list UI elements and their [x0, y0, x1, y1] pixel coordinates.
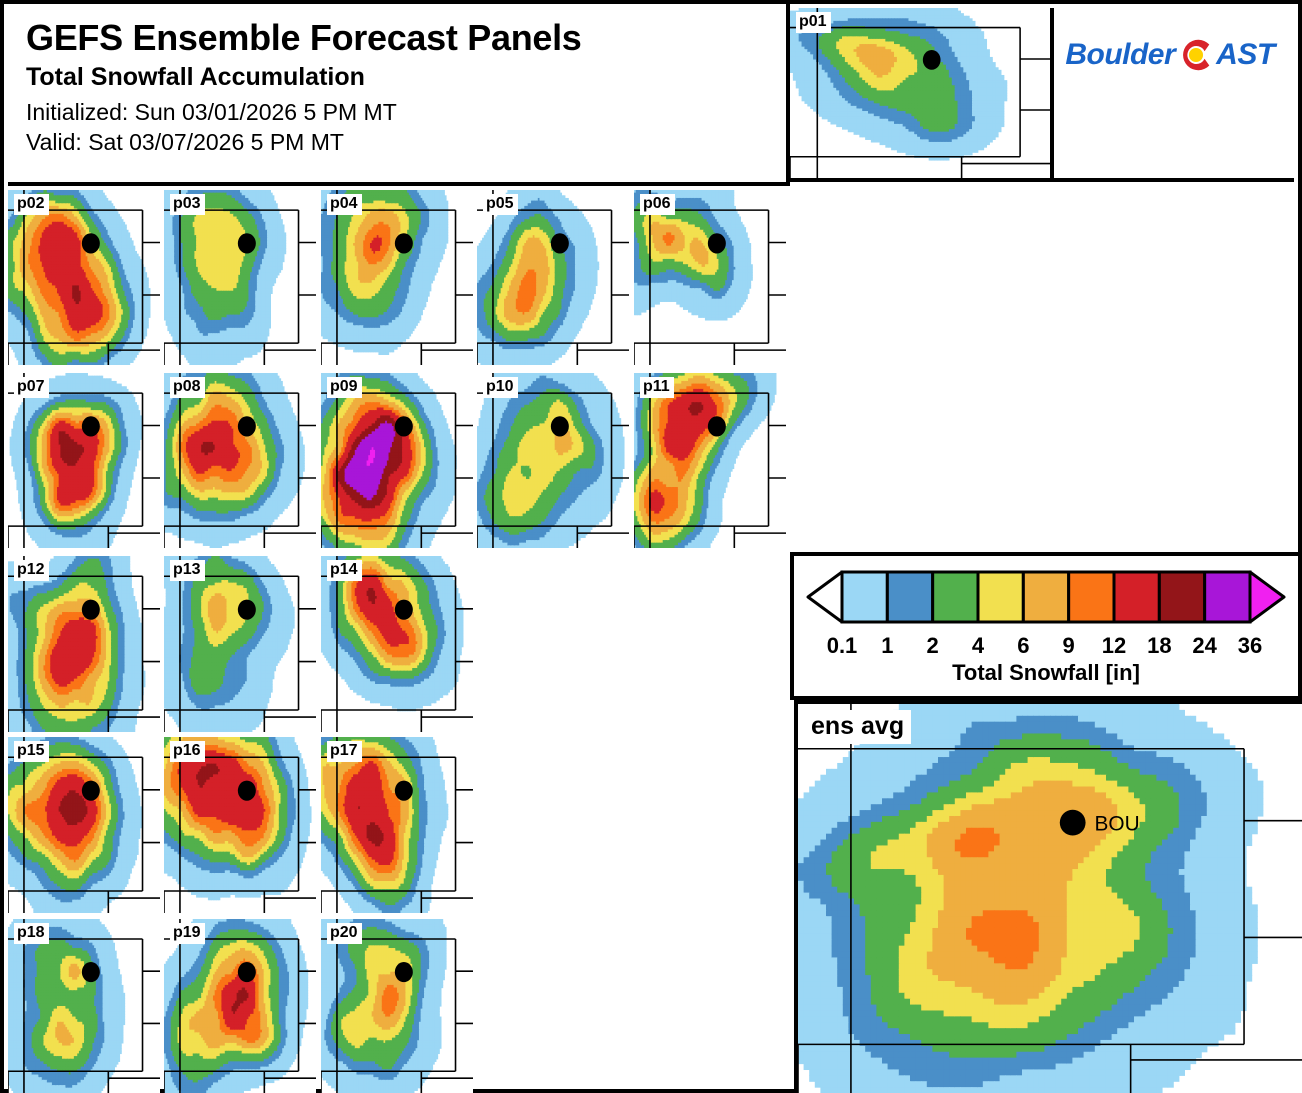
station-marker-bou	[395, 962, 413, 982]
snowfall-contour-fill	[8, 556, 145, 732]
panel-label: p16	[170, 741, 205, 762]
station-marker-bou	[395, 781, 413, 801]
forecast-panel-p19[interactable]: p19	[164, 919, 316, 1093]
colorbar-tick-12: 12	[1102, 633, 1126, 659]
forecast-panel-ens-avg[interactable]: BOU ens avg	[794, 700, 1302, 1093]
forecast-panel-p10[interactable]: p10	[477, 373, 629, 548]
forecast-panel-p01[interactable]: p01	[790, 8, 1054, 182]
forecast-panel-p15[interactable]: p15	[8, 737, 160, 913]
station-marker-bou	[551, 233, 569, 253]
forecast-panel-p05[interactable]: p05	[477, 190, 629, 365]
station-marker-bou: BOU	[1060, 810, 1140, 836]
station-marker-bou	[395, 233, 413, 253]
colorado-c-icon	[1177, 36, 1215, 74]
forecast-panel-p12[interactable]: p12	[8, 556, 160, 732]
forecast-panel-p16[interactable]: p16	[164, 737, 316, 913]
colorbar-tick-1: 1	[881, 633, 893, 659]
panel-label: p03	[170, 194, 205, 215]
station-marker-bou	[238, 416, 256, 436]
colorbar-tick-18: 18	[1147, 633, 1171, 659]
station-marker-bou	[82, 233, 100, 253]
panel-label: p14	[327, 560, 362, 581]
panel-label: p18	[14, 923, 49, 944]
station-marker-bou	[82, 962, 100, 982]
forecast-panel-p09[interactable]: p09	[321, 373, 473, 548]
station-marker-bou	[238, 233, 256, 253]
forecast-figure: GEFS Ensemble Forecast Panels Total Snow…	[0, 0, 1302, 1093]
forecast-panel-p14[interactable]: p14	[321, 556, 473, 732]
station-marker-bou	[238, 962, 256, 982]
forecast-panel-p06[interactable]: p06	[634, 190, 786, 365]
panel-label: p15	[14, 741, 49, 762]
colorbar-tick-labels: 0.11246912182436	[800, 633, 1292, 659]
forecast-panel-p20[interactable]: p20	[321, 919, 473, 1093]
station-marker-bou	[238, 781, 256, 801]
valid-time: Valid: Sat 03/07/2026 5 PM MT	[26, 128, 786, 158]
colorbar-tick-2: 2	[927, 633, 939, 659]
colorbar-legend: 0.11246912182436 Total Snowfall [in]	[790, 552, 1302, 700]
panel-label: p04	[327, 194, 362, 215]
snowfall-contour-fill	[321, 737, 448, 913]
colorbar-tick-36: 36	[1238, 633, 1262, 659]
station-marker-bou	[708, 233, 726, 253]
panel-label: p12	[14, 560, 49, 581]
logo-text-left: Boulder	[1065, 38, 1175, 72]
forecast-panel-p02[interactable]: p02	[8, 190, 160, 365]
panel-label: p05	[483, 194, 518, 215]
station-marker-bou	[395, 416, 413, 436]
colorbar-tick-6: 6	[1017, 633, 1029, 659]
colorbar-tick-4: 4	[972, 633, 984, 659]
colorbar-title: Total Snowfall [in]	[952, 660, 1140, 686]
initialized-time: Initialized: Sun 03/01/2026 5 PM MT	[26, 98, 786, 128]
panel-label: p20	[327, 923, 362, 944]
panel-label: ens avg	[806, 710, 911, 744]
panel-label: p11	[640, 377, 674, 398]
station-marker-bou	[708, 416, 726, 436]
brand-logo: Boulder AST	[1042, 8, 1294, 182]
station-marker-bou	[238, 600, 256, 620]
panel-label: p19	[170, 923, 205, 944]
snowfall-contour-fill	[477, 373, 625, 548]
snowfall-contour-fill	[164, 919, 308, 1093]
snowfall-contour-fill	[798, 704, 1263, 1093]
colorbar-tick-24: 24	[1192, 633, 1216, 659]
station-marker-bou	[82, 600, 100, 620]
snowfall-contour-fill	[321, 373, 457, 548]
forecast-panel-p07[interactable]: p07	[8, 373, 160, 548]
panel-label: p08	[170, 377, 205, 398]
forecast-panel-p04[interactable]: p04	[321, 190, 473, 365]
panel-label: p13	[170, 560, 205, 581]
station-marker-bou	[82, 416, 100, 436]
forecast-panel-p03[interactable]: p03	[164, 190, 316, 365]
forecast-panel-p17[interactable]: p17	[321, 737, 473, 913]
panel-label: p17	[327, 741, 362, 762]
logo-text-right: AST	[1216, 38, 1275, 72]
snowfall-contour-fill	[321, 919, 447, 1093]
station-marker-bou	[395, 600, 413, 620]
snowfall-contour-fill	[8, 737, 142, 913]
panel-label: p02	[14, 194, 49, 215]
panel-label: p07	[14, 377, 49, 398]
station-marker-bou	[551, 416, 569, 436]
panel-label: p09	[327, 377, 362, 398]
forecast-panel-p18[interactable]: p18	[8, 919, 160, 1093]
header-block: GEFS Ensemble Forecast Panels Total Snow…	[8, 4, 790, 186]
panel-label: p10	[483, 377, 518, 398]
forecast-panel-p11[interactable]: p11	[634, 373, 786, 548]
forecast-panel-p08[interactable]: p08	[164, 373, 316, 548]
snowfall-contour-fill	[8, 919, 125, 1093]
station-marker-bou	[923, 50, 941, 70]
page-title: GEFS Ensemble Forecast Panels	[26, 18, 786, 58]
station-marker-bou	[82, 781, 100, 801]
panel-label: p01	[796, 12, 831, 33]
forecast-panel-p13[interactable]: p13	[164, 556, 316, 732]
colorbar-swatches	[800, 566, 1292, 633]
colorbar-tick-9: 9	[1063, 633, 1075, 659]
page-subtitle: Total Snowfall Accumulation	[26, 63, 786, 92]
colorbar-tick-0-1: 0.1	[827, 633, 858, 659]
panel-label: p06	[640, 194, 675, 215]
